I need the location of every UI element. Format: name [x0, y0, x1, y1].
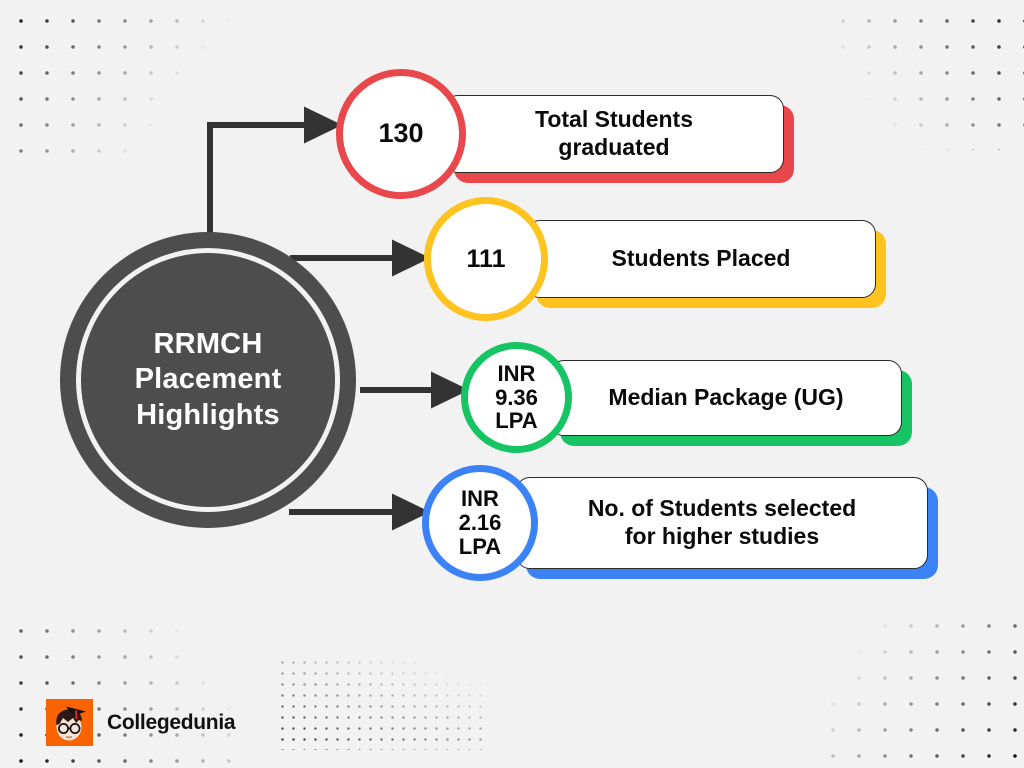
- stat-label-line-1-total-students: Total Students: [535, 106, 693, 134]
- stat-label-total-students: Total Students graduated: [444, 95, 784, 173]
- stat-label-wrap-total-students: Total Students graduated: [444, 95, 784, 173]
- stat-value-line-2-higher-studies: 2.16: [459, 511, 502, 535]
- stat-label-line-2-higher-studies: for higher studies: [588, 523, 856, 551]
- brand-name: Collegedunia: [107, 711, 235, 735]
- stat-label-line-2-total-students: graduated: [535, 134, 693, 162]
- hub-circle: RRMCH Placement Highlights: [60, 232, 356, 528]
- stat-label-wrap-higher-studies: No. of Students selected for higher stud…: [516, 477, 928, 569]
- stat-label-median-package: Median Package (UG): [550, 360, 902, 436]
- hub-title-line-1: RRMCH: [135, 327, 282, 362]
- highlight-row-students-placed[interactable]: 111 Students Placed: [424, 197, 876, 321]
- stat-value-total-students: 130: [378, 119, 423, 148]
- highlight-row-total-students[interactable]: 130 Total Students graduated: [336, 69, 784, 199]
- stat-label-students-placed: Students Placed: [526, 220, 876, 298]
- stat-value-line-3-median-package: LPA: [495, 409, 538, 433]
- stat-badge-total-students: 130: [336, 69, 466, 199]
- stat-label-higher-studies: No. of Students selected for higher stud…: [516, 477, 928, 569]
- stat-value-line-2-median-package: 9.36: [495, 386, 538, 410]
- hub-title: RRMCH Placement Highlights: [135, 327, 282, 433]
- hub-title-line-3: Highlights: [135, 398, 282, 433]
- highlight-row-higher-studies[interactable]: INR 2.16 LPA No. of Students selected fo…: [422, 465, 928, 581]
- stat-badge-median-package: INR 9.36 LPA: [461, 342, 572, 453]
- stat-badge-students-placed: 111: [424, 197, 548, 321]
- stat-badge-higher-studies: INR 2.16 LPA: [422, 465, 538, 581]
- stat-value-median-package: INR 9.36 LPA: [495, 362, 538, 433]
- stat-label-line-1-median-package: Median Package (UG): [608, 384, 843, 412]
- stat-label-wrap-students-placed: Students Placed: [526, 220, 876, 298]
- stat-label-wrap-median-package: Median Package (UG): [550, 360, 902, 436]
- stat-value-line-1-higher-studies: INR: [459, 487, 502, 511]
- stat-label-line-1-students-placed: Students Placed: [612, 245, 791, 273]
- stat-value-higher-studies: INR 2.16 LPA: [459, 487, 502, 558]
- infographic-canvas: RRMCH Placement Highlights 130 Total Stu…: [0, 0, 1024, 768]
- stat-label-line-1-higher-studies: No. of Students selected: [588, 495, 856, 523]
- highlight-row-median-package[interactable]: INR 9.36 LPA Median Package (UG): [461, 342, 902, 453]
- stat-value-students-placed: 111: [467, 246, 506, 273]
- footer-brand: Collegedunia: [46, 699, 235, 746]
- stat-value-line-3-higher-studies: LPA: [459, 535, 502, 559]
- stat-value-line-1-median-package: INR: [495, 362, 538, 386]
- hub-title-line-2: Placement: [135, 362, 282, 397]
- collegedunia-logo-icon: [46, 699, 93, 746]
